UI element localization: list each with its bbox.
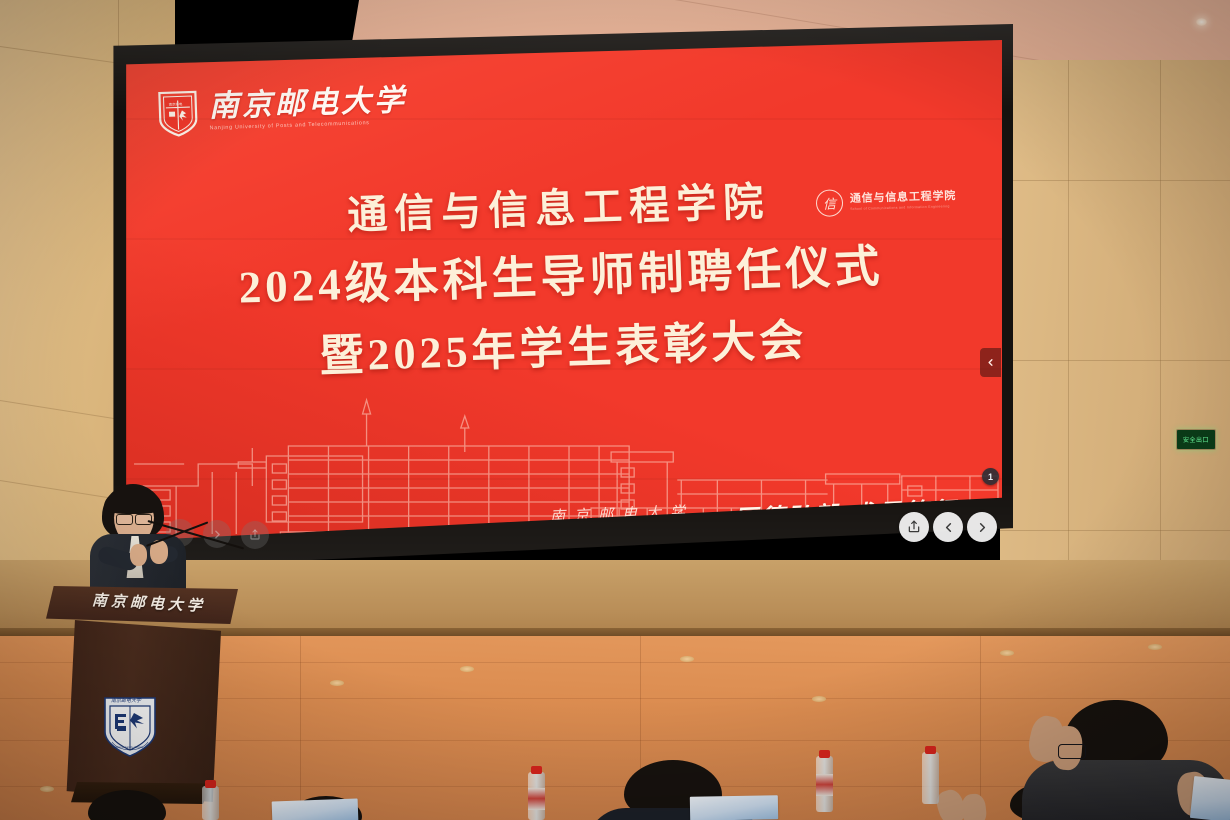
exit-sign: 安全出口 — [1176, 429, 1216, 450]
bottle-cap — [531, 766, 542, 774]
name-placard — [272, 799, 359, 820]
floor-inlay — [330, 680, 344, 686]
next-button[interactable] — [967, 512, 997, 542]
floor-inlay — [680, 656, 694, 662]
previous-button[interactable] — [933, 512, 963, 542]
svg-text:南京邮电: 南京邮电 — [169, 101, 183, 106]
podium: 南京邮电大学 南京邮电大学 Nanjing University of Post… — [46, 586, 238, 801]
name-placard — [690, 795, 778, 820]
wall-panel-seam — [1000, 180, 1230, 181]
speaker-hand-left — [130, 544, 147, 566]
university-lockup: 南京邮电 南京邮电大学 Nanjing University of Posts … — [157, 82, 407, 138]
banner-title: 通信与信息工程学院 2024级本科生导师制聘任仪式 暨2025年学生表彰大会 — [120, 161, 1002, 390]
page-badge[interactable]: 1 — [982, 468, 999, 485]
njupt-shield-icon: 南京邮电大学 Nanjing University of Posts — [102, 692, 158, 760]
speaker-figure — [76, 484, 200, 602]
led-screen: 南京邮电 南京邮电大学 Nanjing University of Posts … — [108, 24, 1013, 569]
floor-inlay — [1000, 650, 1014, 656]
university-name-block: 南京邮电大学 Nanjing University of Posts and T… — [208, 86, 407, 132]
audience-glasses — [1058, 744, 1086, 759]
water-bottle — [922, 752, 939, 804]
bottle-label — [528, 788, 545, 810]
floor-inlay — [1148, 644, 1162, 650]
wall-panel-seam — [1000, 530, 1230, 531]
water-bottle — [202, 786, 219, 820]
collapse-panel-tab[interactable] — [980, 348, 1001, 377]
floor-inlay — [460, 666, 474, 672]
share-button[interactable] — [899, 512, 929, 542]
njupt-crest-icon: 南京邮电 — [157, 89, 199, 138]
speaker-glasses-left — [116, 514, 133, 525]
floor-inlay — [812, 696, 826, 702]
bottle-cap — [205, 780, 216, 788]
bottle-label — [816, 774, 833, 796]
bottle-cap — [819, 750, 830, 758]
svg-text:南京邮电大学: 南京邮电大学 — [111, 697, 142, 704]
screen-content: 南京邮电 南京邮电大学 Nanjing University of Posts … — [120, 38, 1002, 546]
dim-share-button[interactable] — [241, 521, 269, 549]
downlight — [1196, 18, 1207, 26]
exit-sign-label: 安全出口 — [1183, 435, 1209, 444]
name-placard — [1190, 776, 1230, 820]
svg-text:Nanjing University of Posts: Nanjing University of Posts — [112, 745, 144, 749]
wall-panel-seam — [1000, 360, 1230, 361]
scene-root: 安全出口 南京邮电 南京邮电大学 — [0, 0, 1230, 820]
bottle-cap — [925, 746, 936, 754]
